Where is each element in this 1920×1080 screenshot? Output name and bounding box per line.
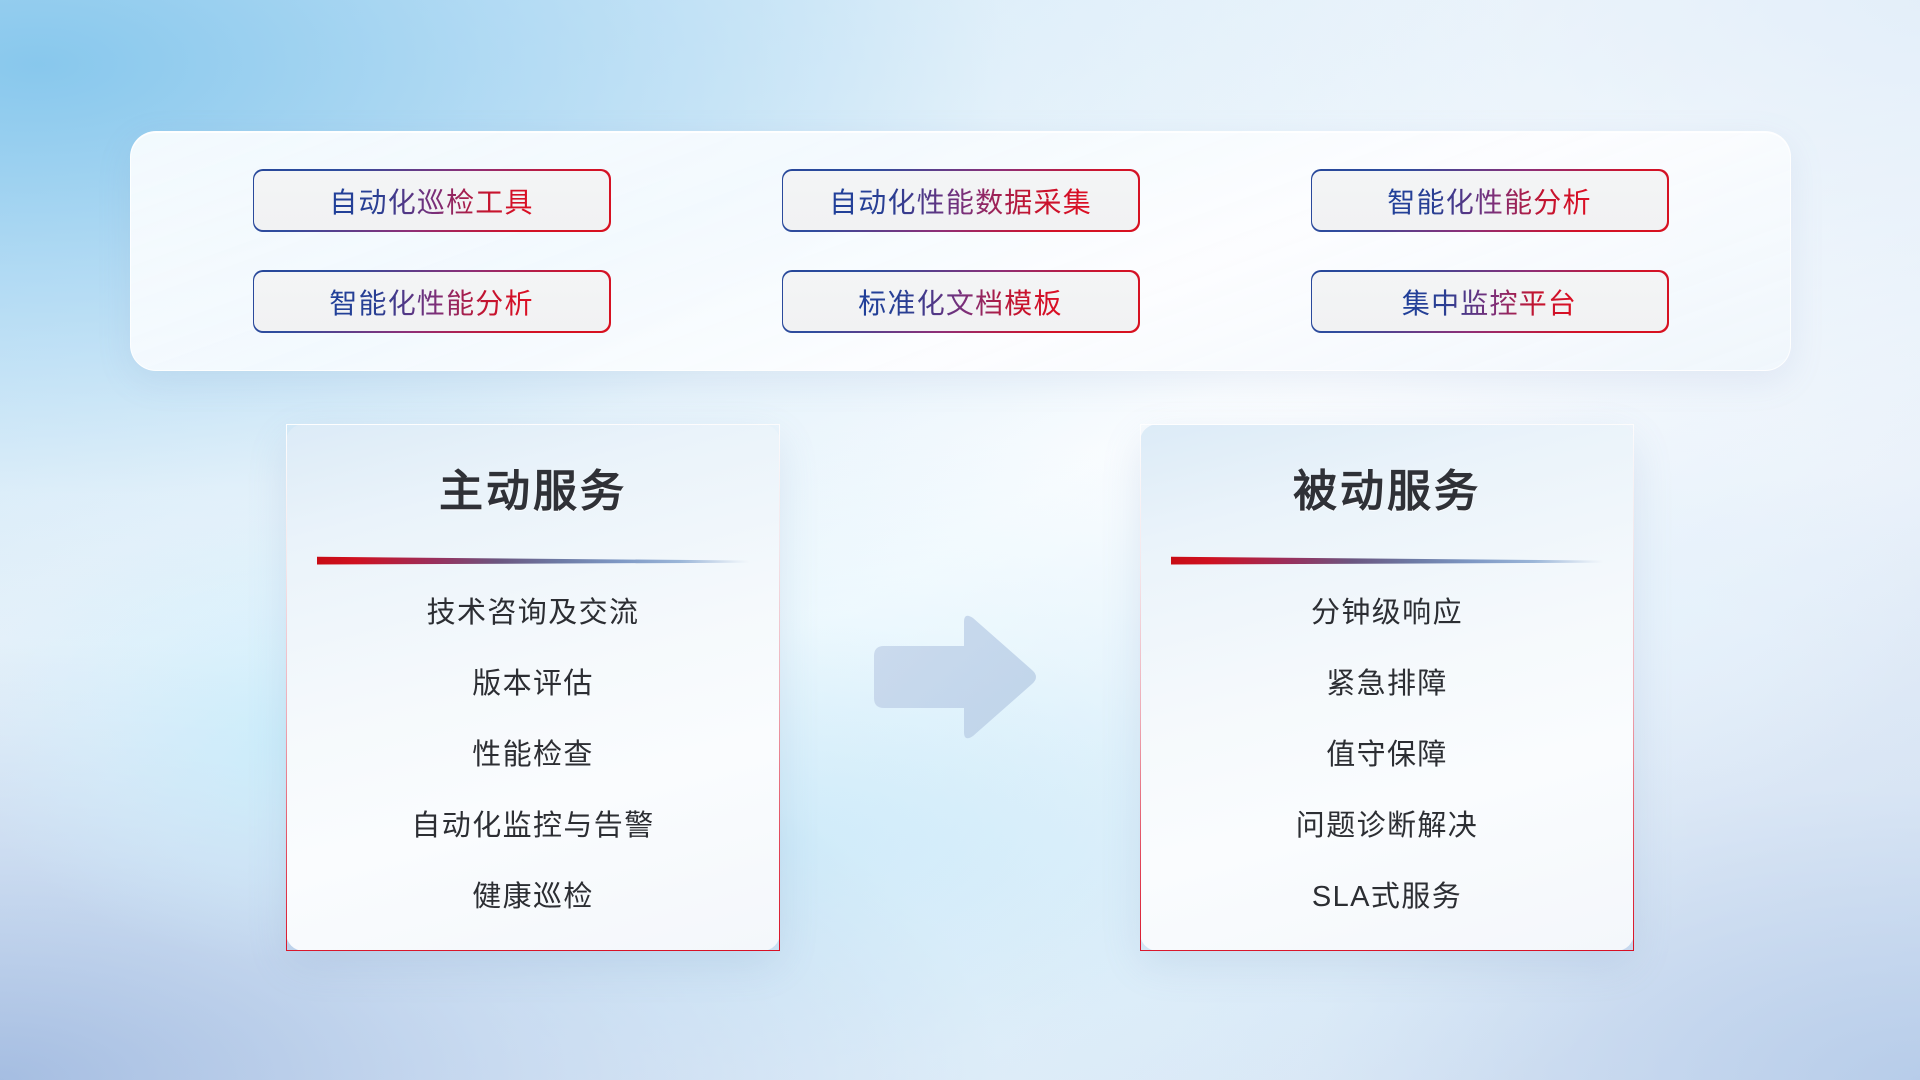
list-item: 问题诊断解决 (1141, 812, 1633, 841)
divider-wedge (1171, 556, 1603, 565)
service-card-active: 主动服务 技术咨询及交流 版本评估 性能检查 自动化监控与告警 健康巡检 (286, 424, 780, 951)
tool-pill-2[interactable]: 智能化性能分析 (1311, 169, 1669, 232)
tool-pill-label: 智能化性能分析 (329, 282, 533, 322)
tool-pill-label: 自动化性能数据采集 (829, 181, 1092, 221)
right-arrow-icon (868, 612, 1040, 742)
tool-pill-3[interactable]: 智能化性能分析 (253, 270, 611, 333)
list-item: SLA式服务 (1141, 883, 1633, 912)
tools-panel: 自动化巡检工具 自动化性能数据采集 智能化性能分析 智能化性能分析 (130, 131, 1791, 371)
list-item: 值守保障 (1141, 741, 1633, 770)
tool-pill-label: 自动化巡检工具 (329, 181, 533, 221)
tool-pill-inner: 智能化性能分析 (1312, 171, 1667, 231)
tool-pill-inner: 自动化巡检工具 (254, 171, 609, 231)
list-item: 自动化监控与告警 (287, 812, 779, 841)
diagram-stage: 自动化巡检工具 自动化性能数据采集 智能化性能分析 智能化性能分析 (0, 0, 1920, 1080)
list-item: 健康巡检 (287, 883, 779, 912)
card-title: 主动服务 (287, 455, 779, 519)
tools-grid: 自动化巡检工具 自动化性能数据采集 智能化性能分析 智能化性能分析 (131, 169, 1790, 333)
card-title: 被动服务 (1141, 455, 1633, 519)
tool-pill-label: 集中监控平台 (1402, 282, 1577, 322)
list-item: 分钟级响应 (1141, 599, 1633, 628)
list-item: 技术咨询及交流 (287, 599, 779, 628)
tool-pill-inner: 集中监控平台 (1312, 272, 1667, 332)
tool-pill-4[interactable]: 标准化文档模板 (782, 270, 1140, 333)
card-item-list: 技术咨询及交流 版本评估 性能检查 自动化监控与告警 健康巡检 (287, 599, 779, 912)
divider-wedge (317, 556, 749, 565)
list-item: 版本评估 (287, 670, 779, 699)
list-item: 性能检查 (287, 741, 779, 770)
tool-pill-inner: 自动化性能数据采集 (783, 171, 1138, 231)
tool-pill-0[interactable]: 自动化巡检工具 (253, 169, 611, 232)
tool-pill-inner: 智能化性能分析 (254, 272, 609, 332)
tool-pill-label: 标准化文档模板 (858, 282, 1062, 322)
list-item: 紧急排障 (1141, 670, 1633, 699)
card-item-list: 分钟级响应 紧急排障 值守保障 问题诊断解决 SLA式服务 (1141, 599, 1633, 912)
tool-pill-5[interactable]: 集中监控平台 (1311, 270, 1669, 333)
tool-pill-inner: 标准化文档模板 (783, 272, 1138, 332)
tool-pill-label: 智能化性能分析 (1387, 181, 1591, 221)
tool-pill-1[interactable]: 自动化性能数据采集 (782, 169, 1140, 232)
service-card-passive: 被动服务 分钟级响应 紧急排障 值守保障 问题诊断解决 SLA式服务 (1140, 424, 1634, 951)
card-divider (1171, 556, 1603, 565)
card-divider (317, 556, 749, 565)
